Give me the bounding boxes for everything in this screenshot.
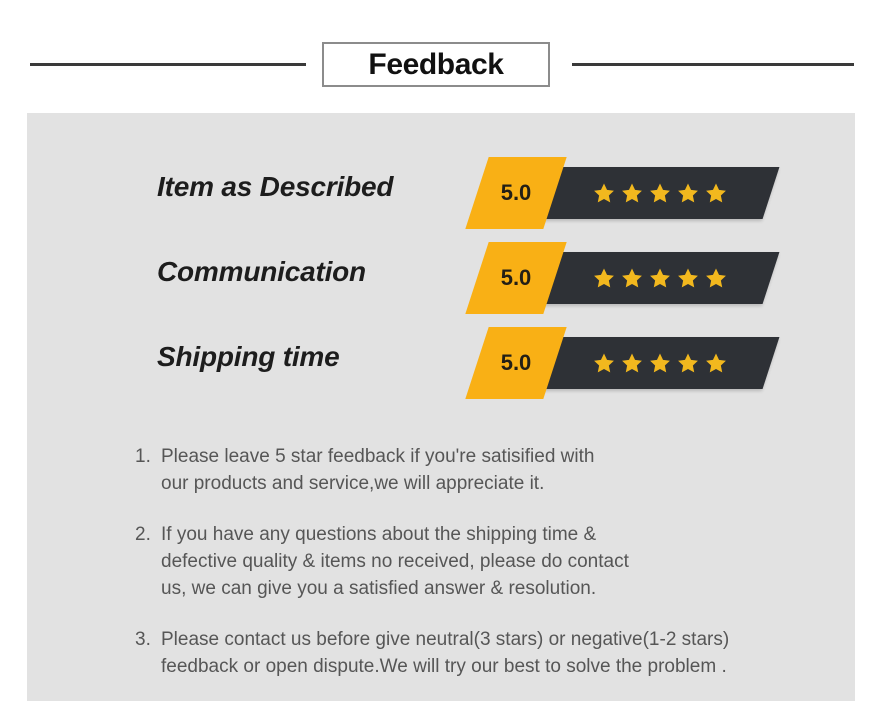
- star-icon: [649, 267, 671, 289]
- note-number: 2.: [135, 521, 157, 548]
- feedback-page: { "header": { "title": "Feedback" }, "ra…: [0, 0, 880, 719]
- rating-badge: 5.0: [457, 157, 797, 243]
- page-title: Feedback: [368, 50, 503, 80]
- rating-score-inner: 5.0: [477, 327, 555, 399]
- rating-stars: [549, 167, 771, 219]
- note-line: feedback or open dispute.We will try our…: [161, 653, 845, 680]
- star-icon: [621, 182, 643, 204]
- star-icon: [649, 352, 671, 374]
- note-number: 3.: [135, 626, 157, 653]
- note-item: 1. Please leave 5 star feedback if you'r…: [135, 443, 845, 497]
- rating-score: 5.0: [501, 267, 532, 289]
- note-item: 3. Please contact us before give neutral…: [135, 626, 845, 680]
- note-line: our products and service,we will appreci…: [161, 470, 845, 497]
- rating-score-inner: 5.0: [477, 157, 555, 229]
- star-icon: [593, 267, 615, 289]
- rating-row: Shipping time 5.0: [27, 327, 855, 413]
- rating-stars-panel: [541, 252, 780, 304]
- note-line: If you have any questions about the ship…: [161, 521, 845, 548]
- note-line: us, we can give you a satisfied answer &…: [161, 575, 845, 602]
- rating-stars: [549, 252, 771, 304]
- note-number: 1.: [135, 443, 157, 470]
- star-icon: [621, 352, 643, 374]
- note-body: Please contact us before give neutral(3 …: [161, 626, 845, 680]
- rating-score: 5.0: [501, 182, 532, 204]
- star-icon: [649, 182, 671, 204]
- page-title-box: Feedback: [322, 42, 550, 87]
- note-line: Please contact us before give neutral(3 …: [161, 626, 845, 653]
- star-icon: [705, 182, 727, 204]
- note-body: Please leave 5 star feedback if you're s…: [161, 443, 845, 497]
- rating-score-panel: 5.0: [465, 157, 566, 229]
- rating-row: Communication 5.0: [27, 242, 855, 328]
- rating-score-inner: 5.0: [477, 242, 555, 314]
- star-icon: [677, 267, 699, 289]
- page-header: Feedback: [0, 0, 880, 113]
- rating-row: Item as Described 5.0: [27, 157, 855, 243]
- note-line: defective quality & items no received, p…: [161, 548, 845, 575]
- rating-score-panel: 5.0: [465, 327, 566, 399]
- rating-label: Communication: [157, 253, 457, 291]
- star-icon: [705, 267, 727, 289]
- rating-stars-panel: [541, 167, 780, 219]
- rating-badge: 5.0: [457, 327, 797, 413]
- star-icon: [705, 352, 727, 374]
- star-icon: [593, 182, 615, 204]
- rating-label: Shipping time: [157, 338, 457, 376]
- note-line: Please leave 5 star feedback if you're s…: [161, 443, 845, 470]
- rating-score-panel: 5.0: [465, 242, 566, 314]
- star-icon: [677, 182, 699, 204]
- header-rule-left: [30, 63, 306, 66]
- rating-badge: 5.0: [457, 242, 797, 328]
- header-rule-right: [572, 63, 854, 66]
- feedback-notes: 1. Please leave 5 star feedback if you'r…: [135, 443, 845, 704]
- star-icon: [593, 352, 615, 374]
- star-icon: [621, 267, 643, 289]
- feedback-panel: Item as Described 5.0: [27, 113, 855, 701]
- star-icon: [677, 352, 699, 374]
- rating-score: 5.0: [501, 352, 532, 374]
- note-item: 2. If you have any questions about the s…: [135, 521, 845, 602]
- rating-stars: [549, 337, 771, 389]
- note-body: If you have any questions about the ship…: [161, 521, 845, 602]
- rating-stars-panel: [541, 337, 780, 389]
- rating-label: Item as Described: [157, 168, 457, 206]
